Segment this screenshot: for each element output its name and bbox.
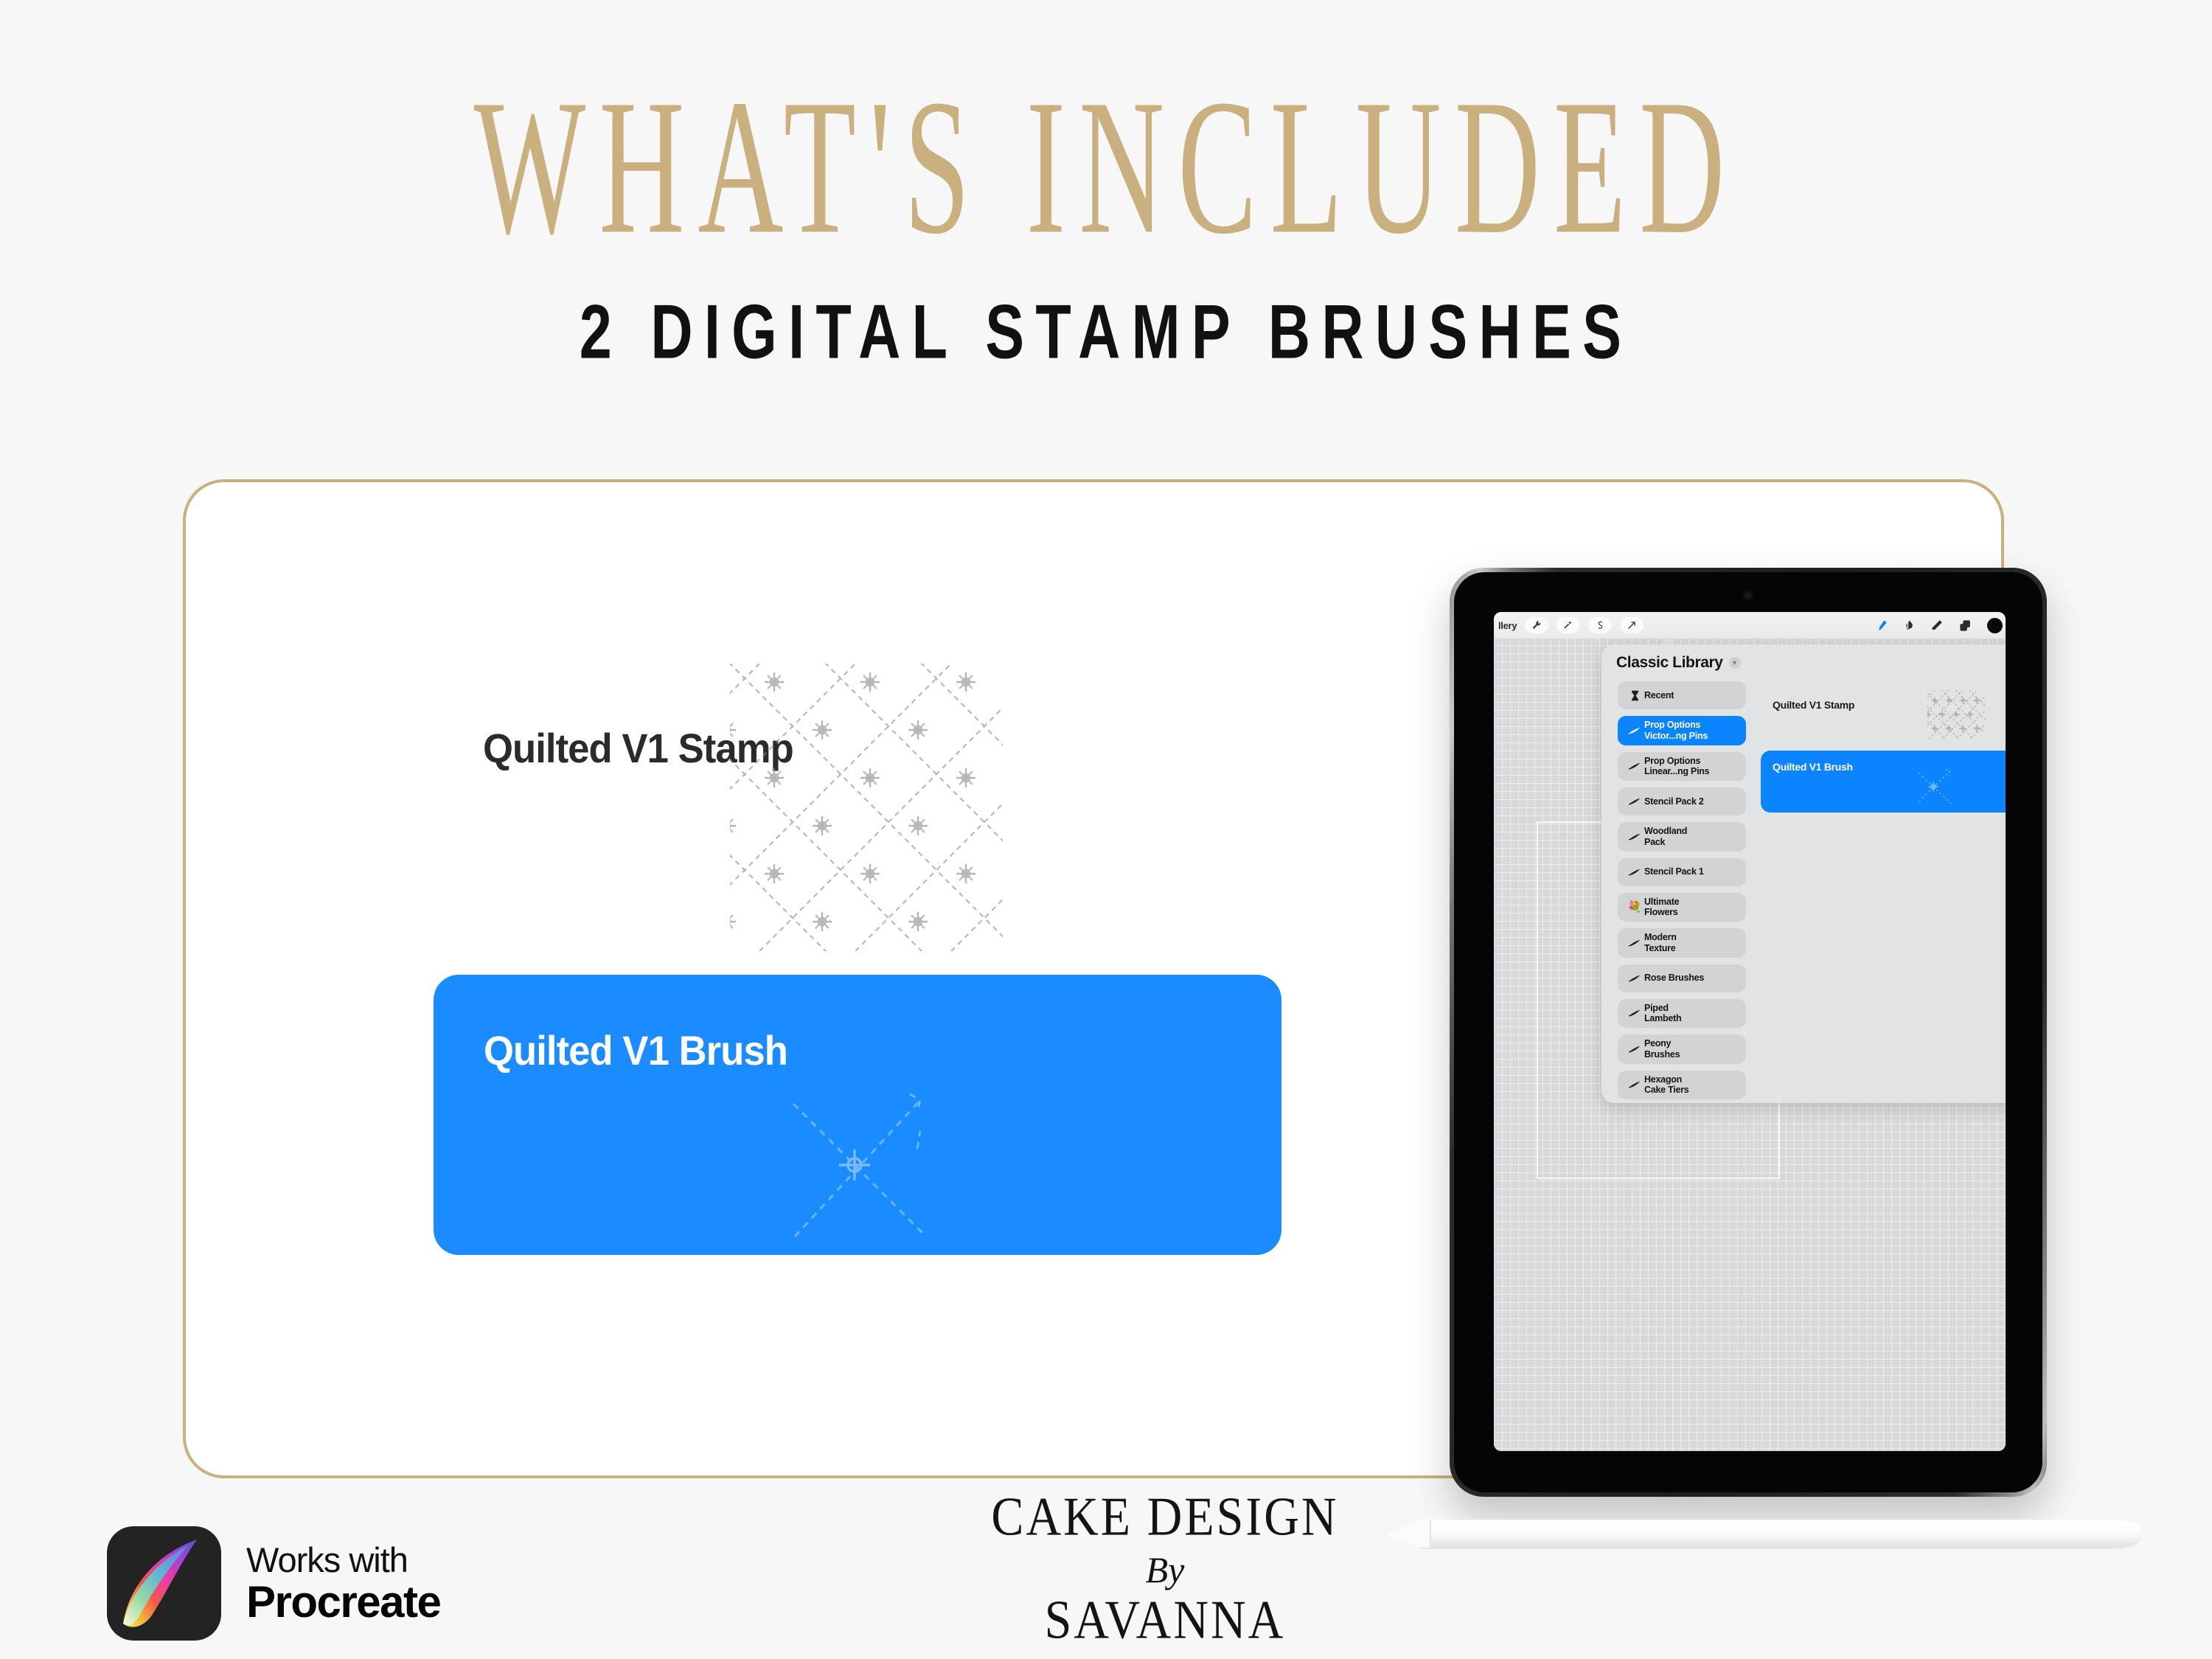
smudge-icon[interactable]	[1903, 619, 1916, 633]
layers-icon[interactable]	[1958, 619, 1972, 633]
brush-stroke-icon	[1625, 1009, 1644, 1018]
selection-icon[interactable]	[1588, 617, 1612, 633]
brush-stroke-icon	[1625, 797, 1644, 806]
ipad-bezel: llery	[1454, 572, 2042, 1492]
brush-library-popup: Classic Library ▼ + RecentProp OptionsVi…	[1601, 644, 2006, 1103]
brush-set-item-piped[interactable]: PipedLambeth	[1618, 999, 1746, 1029]
apple-pencil	[1386, 1515, 2146, 1559]
brush-stroke-icon	[1625, 974, 1644, 983]
quilted-star-thumb-icon	[1914, 767, 1955, 805]
list-item[interactable]: Quilted V1 Stamp	[1761, 689, 2006, 742]
brush-set-label: Prop OptionsLinear...ng Pins	[1644, 756, 1709, 778]
front-camera-icon	[1743, 590, 1754, 601]
transform-icon[interactable]	[1620, 617, 1644, 633]
brush-set-label: Stencil Pack 1	[1644, 866, 1704, 877]
brush-set-label: Prop OptionsVictor...ng Pins	[1644, 720, 1708, 742]
brush-set-item-rose-brushes[interactable]: Rose Brushes	[1618, 964, 1746, 992]
list-item[interactable]: Quilted V1 Brush	[1761, 751, 2006, 813]
brush-set-label: PeonyBrushes	[1644, 1038, 1680, 1060]
brand-logo: CAKE DESIGN By SAVANNA	[944, 1489, 1386, 1649]
chevron-down-icon[interactable]: ▼	[1729, 657, 1741, 669]
magic-wand-icon[interactable]	[1557, 617, 1580, 633]
quilted-lattice-thumb-icon	[1927, 690, 1985, 739]
brush-stroke-icon	[1625, 939, 1644, 947]
brush-stroke-icon	[1625, 868, 1644, 877]
brush-icon[interactable]	[1876, 619, 1888, 633]
brush-stroke-icon	[1625, 832, 1644, 841]
brush-set-label: HexagonCake Tiers	[1644, 1074, 1689, 1096]
library-title: Classic Library	[1616, 654, 1723, 672]
brush-set-item-hexagon[interactable]: HexagonCake Tiers	[1618, 1071, 1746, 1100]
brush-set-list[interactable]: RecentProp OptionsVictor...ng PinsProp O…	[1601, 681, 1753, 1103]
brush-set-label: ModernTexture	[1644, 932, 1677, 954]
ipad-device: llery	[1450, 568, 2047, 1497]
stamp-preview: Quilted V1 Stamp	[442, 686, 1003, 951]
ipad-screen: llery	[1494, 612, 2006, 1451]
brush-set-item-stencil-pack-1[interactable]: Stencil Pack 1	[1618, 858, 1746, 886]
procreate-app-icon	[107, 1526, 221, 1641]
brush-set-label: PipedLambeth	[1644, 1003, 1681, 1025]
brush-set-item-woodland[interactable]: WoodlandPack	[1618, 822, 1746, 852]
brand-line-3: SAVANNA	[944, 1589, 1386, 1652]
brush-set-item-prop-options[interactable]: Prop OptionsVictor...ng Pins	[1618, 716, 1746, 745]
brush-stroke-icon	[1625, 726, 1644, 735]
brush-set-item-modern[interactable]: ModernTexture	[1618, 928, 1746, 958]
brush-preview-card[interactable]: Quilted V1 Brush	[434, 975, 1281, 1255]
brush-set-item-ultimate[interactable]: 💐UltimateFlowers	[1618, 893, 1746, 922]
procreate-label: Procreate	[246, 1579, 440, 1625]
brush-set-item-prop-options[interactable]: Prop OptionsLinear...ng Pins	[1618, 752, 1746, 782]
brush-set-label: UltimateFlowers	[1644, 897, 1679, 919]
brand-line-2: By	[944, 1548, 1386, 1591]
library-header: Classic Library ▼ +	[1601, 644, 2006, 681]
brush-set-label: Recent	[1644, 690, 1674, 701]
brush-set-item-peony[interactable]: PeonyBrushes	[1618, 1034, 1746, 1064]
brush-set-item-stencil-pack-2[interactable]: Stencil Pack 2	[1618, 787, 1746, 815]
library-body: RecentProp OptionsVictor...ng PinsProp O…	[1601, 681, 2006, 1103]
quilted-star-stroke-icon	[773, 1078, 942, 1248]
brush-item-name: Quilted V1 Brush	[1773, 761, 2006, 773]
gallery-button[interactable]: llery	[1498, 620, 1517, 631]
page-subtitle: 2 DIGITAL STAMP BRUSHES	[111, 288, 2101, 376]
wrench-icon[interactable]	[1525, 617, 1548, 633]
brush-stroke-icon	[1625, 762, 1644, 771]
color-swatch-button[interactable]	[1987, 618, 2003, 633]
brush-set-label: WoodlandPack	[1644, 826, 1687, 848]
hourglass-icon	[1625, 690, 1644, 701]
brush-preview-label: Quilted V1 Brush	[484, 1026, 787, 1074]
brand-line-1: CAKE DESIGN	[944, 1486, 1386, 1548]
brush-set-item-recent[interactable]: Recent	[1618, 681, 1746, 709]
brush-stroke-icon	[1625, 1080, 1644, 1089]
quilted-lattice-pattern-icon	[730, 664, 1003, 951]
brush-item-list[interactable]: Quilted V1 Stamp	[1753, 681, 2006, 1103]
brush-set-label: Rose Brushes	[1644, 973, 1704, 984]
procreate-badge-text: Works with Procreate	[246, 1542, 440, 1624]
eraser-icon[interactable]	[1930, 619, 1944, 632]
bouquet-emoji-icon: 💐	[1625, 900, 1644, 914]
page-title: WHAT'S INCLUDED	[199, 71, 2013, 265]
procreate-toolbar: llery	[1494, 612, 2006, 639]
works-with-label: Works with	[246, 1542, 440, 1578]
works-with-procreate-badge: Works with Procreate	[107, 1526, 440, 1641]
brush-set-label: Stencil Pack 2	[1644, 796, 1704, 807]
brush-stroke-icon	[1625, 1045, 1644, 1054]
